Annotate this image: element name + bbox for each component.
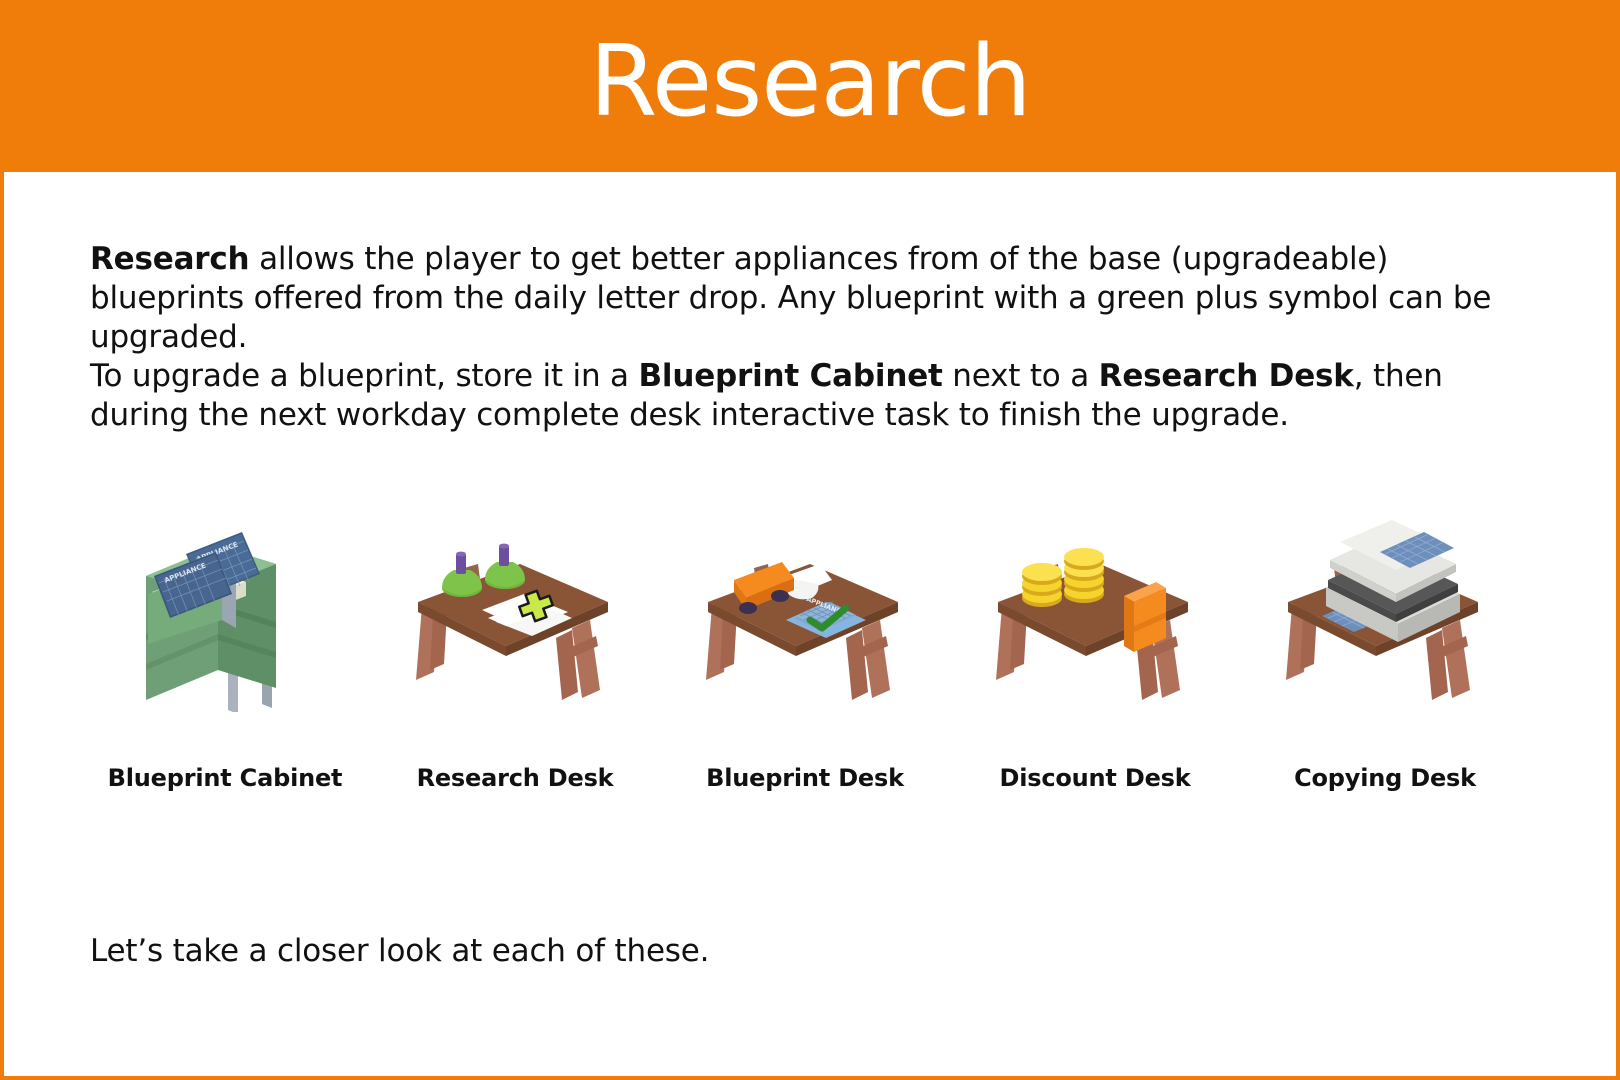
copying-desk-icon bbox=[1270, 502, 1500, 712]
gallery-label-research-desk: Research Desk bbox=[417, 764, 614, 792]
blueprint-cabinet-icon: APPLIANCE bbox=[110, 502, 340, 712]
blueprint-desk-icon: APPLIANCE bbox=[690, 502, 920, 712]
paragraph-instructions-bold-cabinet: Blueprint Cabinet bbox=[639, 358, 943, 394]
paragraph-intro-bold: Research bbox=[90, 241, 249, 277]
gallery-item-research-desk[interactable]: Research Desk bbox=[380, 502, 650, 792]
paragraph-instructions-part1: To upgrade a blueprint, store it in a bbox=[90, 358, 639, 394]
research-desk-icon bbox=[400, 502, 630, 712]
flask-left bbox=[442, 552, 482, 597]
paragraph-intro-rest: allows the player to get better applianc… bbox=[90, 241, 1491, 355]
paragraph-instructions: To upgrade a blueprint, store it in a Bl… bbox=[90, 357, 1510, 435]
slide-root: Research Research allows the player to g… bbox=[0, 0, 1620, 1080]
closing-line: Let’s take a closer look at each of thes… bbox=[90, 932, 709, 971]
coin-stack-right bbox=[1064, 548, 1104, 603]
furniture-gallery: APPLIANCE bbox=[90, 502, 1520, 792]
slide-header: Research bbox=[0, 0, 1620, 172]
gallery-label-copying-desk: Copying Desk bbox=[1294, 764, 1476, 792]
gallery-item-discount-desk[interactable]: Discount Desk bbox=[960, 502, 1230, 792]
gallery-label-blueprint-desk: Blueprint Desk bbox=[706, 764, 904, 792]
paragraph-instructions-part2: next to a bbox=[943, 358, 1099, 394]
page-title: Research bbox=[589, 33, 1031, 131]
coin-stack-left bbox=[1022, 563, 1062, 607]
paragraph-instructions-bold-desk: Research Desk bbox=[1099, 358, 1354, 394]
flask-right bbox=[485, 544, 525, 589]
gallery-item-blueprint-cabinet[interactable]: APPLIANCE bbox=[90, 502, 360, 792]
slide-body: Research allows the player to get better… bbox=[0, 172, 1620, 1080]
discount-desk-icon bbox=[980, 502, 1210, 712]
paragraph-intro: Research allows the player to get better… bbox=[90, 240, 1510, 357]
gallery-label-discount-desk: Discount Desk bbox=[1000, 764, 1191, 792]
gallery-label-blueprint-cabinet: Blueprint Cabinet bbox=[108, 764, 343, 792]
gallery-item-blueprint-desk[interactable]: APPLIANCE Blueprint Desk bbox=[670, 502, 940, 792]
gallery-item-copying-desk[interactable]: Copying Desk bbox=[1250, 502, 1520, 792]
